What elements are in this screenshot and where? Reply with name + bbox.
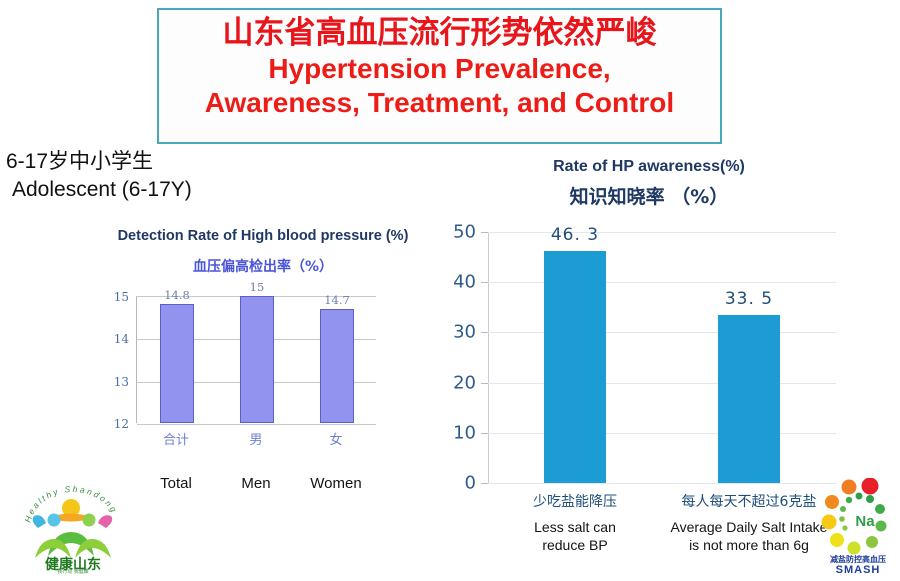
y-axis-tick-mark [481,383,488,384]
y-axis-tick-mark [481,282,488,283]
y-axis-line [488,232,489,483]
chart-title-chinese: 血压偏高检出率（%） [88,256,438,276]
x-axis-label-cn: 女 [329,429,342,448]
smash-acronym: SMASH [836,564,881,576]
adolescent-header-english: Adolescent (6-17Y) [6,176,192,204]
x-axis-label-en-line: Less salt can [534,519,616,537]
y-axis-tick-label: 12 [114,417,129,431]
detection-rate-chart: Detection Rate of High blood pressure (%… [88,228,438,443]
gridline [488,232,836,233]
y-axis-tick-label: 0 [465,473,476,494]
bar-value-label: 46. 3 [551,225,599,245]
awareness-title-english: Rate of HP awareness(%) [452,158,846,176]
y-axis-tick-label: 30 [453,322,476,343]
x-axis-label-cn: 少吃盐能降压 [533,491,617,511]
healthy-shandong-logo-icon: Healthy Shandong 健康山东 [18,484,128,574]
y-axis-tick-label: 40 [453,272,476,293]
gridline [137,424,376,425]
y-axis-tick-label: 13 [114,375,129,389]
adolescent-header-chinese: 6-17岁中小学生 [6,148,192,176]
y-axis-tick-mark [481,332,488,333]
hp-awareness-plot-area: 0102030405046. 333. 5 [488,232,836,483]
bar [544,251,606,483]
y-axis-tick-label: 50 [453,222,476,243]
bar-value-label: 14.8 [164,288,190,302]
y-axis-tick-label: 14 [114,332,129,346]
y-axis-tick-label: 10 [453,422,476,443]
bar-value-label: 33. 5 [725,289,773,309]
y-axis-tick-mark [481,433,488,434]
smash-name-cn: 减盐防控高血压 [830,554,886,564]
slide-title-box: 山东省高血压流行形势依然严峻 Hypertension Prevalence, … [157,8,722,144]
x-axis-label-en: Men [241,475,270,492]
healthy-shandong-logo: Healthy Shandong 健康山东 我行动 我健康 [18,484,128,574]
bar [320,309,354,423]
x-axis-label-en: Total [160,475,192,492]
x-axis-label-cn: 男 [249,429,262,448]
x-axis-label-en-line: is not more than 6g [671,537,828,555]
gridline [488,433,836,434]
detection-rate-plot-area: 1213141514.81514.7 [136,296,376,423]
x-axis-label-en-line: Average Daily Salt Intake [671,519,828,537]
title-english-line1: Hypertension Prevalence, [268,52,610,86]
awareness-title-chinese: 知识知晓率 （%） [452,182,846,209]
y-axis-tick-mark [481,232,488,233]
title-english-line2: Awareness, Treatment, and Control [205,86,674,120]
x-axis-label-en: Less salt canreduce BP [534,519,616,554]
smash-logo: Na 减盐防控高血压 SMASH [818,478,898,576]
smash-na-text: Na [855,513,875,530]
y-axis-tick-label: 15 [114,290,129,304]
x-axis-label-en: Women [310,475,361,492]
smash-logo-icon: Na 减盐防控高血压 SMASH [818,478,898,576]
bar [240,296,274,423]
y-axis-tick-label: 20 [453,372,476,393]
bar [160,304,194,423]
adolescent-section-header: 6-17岁中小学生 Adolescent (6-17Y) [6,148,192,203]
bar [718,315,780,483]
title-chinese: 山东省高血压流行形势依然严峻 [223,16,657,52]
healthy-shandong-tagline: 我行动 我健康 [18,568,128,575]
y-axis-tick-mark [481,483,488,484]
gridline [488,282,836,283]
gridline [488,332,836,333]
gridline [488,383,836,384]
bar-value-label: 14.7 [324,293,350,307]
x-axis-label-cn: 合计 [163,429,189,448]
x-axis-label-cn: 每人每天不超过6克盐 [682,491,817,511]
gridline [488,483,836,484]
x-axis-label-en: Average Daily Salt Intakeis not more tha… [671,519,828,554]
chart-title-english: Detection Rate of High blood pressure (%… [88,228,438,244]
bar-value-label: 15 [250,280,265,294]
x-axis-label-en-line: reduce BP [534,537,616,555]
